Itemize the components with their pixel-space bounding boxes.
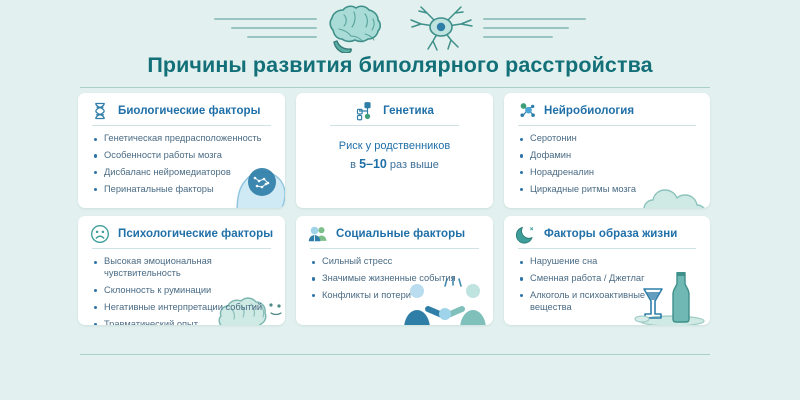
card-bullet-list: Сильный стресс Значимые жизненные событи…	[296, 249, 493, 302]
genetics-stat-suffix: раз выше	[387, 159, 439, 171]
dna-icon	[90, 101, 110, 121]
card-bullet-list: Нарушение сна Сменная работа / Джетлаг А…	[504, 249, 710, 314]
family-tree-icon	[355, 101, 375, 121]
list-item: Перинатальные факторы	[94, 184, 264, 196]
list-item: Склонность к руминации	[94, 285, 264, 297]
two-users-icon	[308, 224, 328, 244]
card-header: Нейробиология	[504, 93, 710, 119]
card-psychological[interactable]: Психологические факторы Высокая эмоциона…	[78, 216, 285, 325]
list-item: Серотонин	[520, 133, 690, 145]
list-item: Дисбаланс нейромедиаторов	[94, 167, 264, 179]
card-lifestyle[interactable]: Факторы образа жизни Нарушение сна Сменн…	[504, 216, 710, 325]
card-title: Генетика	[383, 105, 434, 117]
card-header: Факторы образа жизни	[504, 216, 710, 242]
sad-face-icon	[90, 224, 110, 244]
card-header: Психологические факторы	[78, 216, 285, 242]
list-item: Особенности работы мозга	[94, 150, 264, 162]
speed-lines-right-icon	[483, 18, 603, 38]
list-item: Циркадные ритмы мозга	[520, 184, 690, 196]
list-item: Дофамин	[520, 150, 690, 162]
card-title: Психологические факторы	[118, 228, 273, 240]
list-item: Нарушение сна	[520, 256, 690, 268]
card-title: Нейробиология	[544, 105, 634, 117]
genetics-stat-line2: в 5–10 раз выше	[304, 155, 485, 174]
page-title: Причины развития биполярного расстройств…	[0, 53, 800, 78]
card-title: Факторы образа жизни	[544, 228, 677, 240]
moon-icon	[516, 224, 536, 244]
card-social[interactable]: Социальные факторы Сильный стресс Значим…	[296, 216, 493, 325]
list-item: Значимые жизненные события	[312, 273, 482, 285]
card-neurobiology[interactable]: Нейробиология Серотонин Дофамин Норадрен…	[504, 93, 710, 208]
list-item: Конфликты и потери	[312, 290, 482, 302]
list-item: Сильный стресс	[312, 256, 482, 268]
genetics-stat: Риск у родственников в 5–10 раз выше	[296, 126, 493, 174]
card-biological[interactable]: Биологические факторы Генетическая предр…	[78, 93, 285, 208]
neuron-icon	[403, 3, 479, 53]
card-header: Биологические факторы	[78, 93, 285, 119]
card-bullet-list: Серотонин Дофамин Норадреналин Циркадные…	[504, 126, 710, 196]
hero-illustration	[0, 2, 800, 54]
molecule-icon	[516, 101, 536, 121]
list-item: Норадреналин	[520, 167, 690, 179]
list-item: Генетическая предрасположенность	[94, 133, 264, 145]
list-item: Высокая эмоциональная чувствительность	[94, 256, 264, 280]
list-item: Алкоголь и психоактивные вещества	[520, 290, 652, 314]
list-item: Сменная работа / Джетлаг	[520, 273, 690, 285]
footer-divider	[80, 354, 710, 355]
header: Причины развития биполярного расстройств…	[0, 0, 800, 88]
genetics-stat-prefix: в	[350, 159, 359, 171]
brain-icon	[321, 3, 395, 53]
card-title: Биологические факторы	[118, 105, 260, 117]
genetics-stat-number: 5–10	[359, 157, 387, 171]
card-header: Генетика	[296, 93, 493, 119]
card-bullet-list: Генетическая предрасположенность Особенн…	[78, 126, 285, 196]
speed-lines-left-icon	[197, 18, 317, 38]
factors-grid: Биологические факторы Генетическая предр…	[78, 93, 710, 325]
card-genetics[interactable]: Генетика Риск у родственников в 5–10 раз…	[296, 93, 493, 208]
header-divider	[80, 87, 710, 88]
genetics-stat-line1: Риск у родственников	[304, 138, 485, 155]
card-title: Социальные факторы	[336, 228, 465, 240]
list-item: Негативные интерпретации событий	[94, 302, 264, 314]
card-bullet-list: Высокая эмоциональная чувствительность С…	[78, 249, 285, 325]
card-header: Социальные факторы	[296, 216, 493, 242]
list-item: Травматический опыт	[94, 319, 264, 325]
